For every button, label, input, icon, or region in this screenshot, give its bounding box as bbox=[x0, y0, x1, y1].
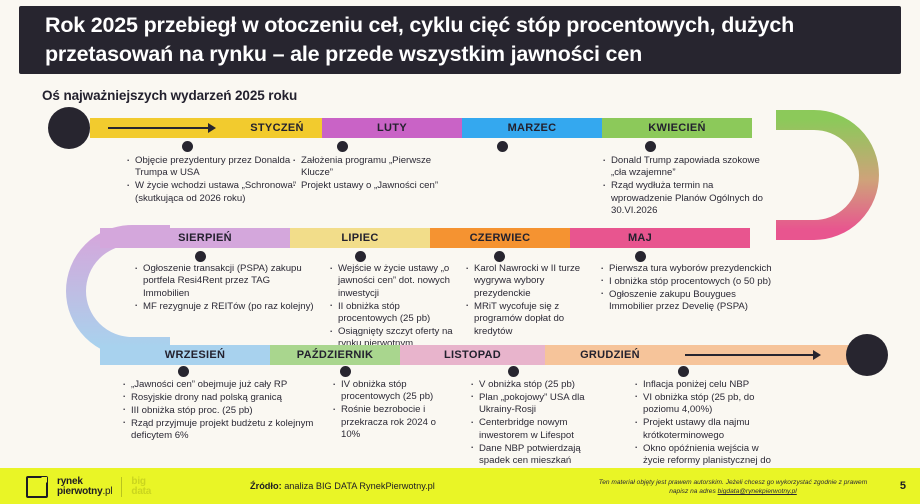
list-item: III obniżka stóp proc. (25 pb) bbox=[120, 405, 332, 417]
event-dot bbox=[494, 251, 505, 262]
month-label-kwiecien: KWIECIEŃ bbox=[602, 118, 752, 138]
section-subtitle: Oś najważniejszych wydarzeń 2025 roku bbox=[42, 88, 297, 103]
row3-arrow-head bbox=[813, 350, 821, 360]
list-item: Objęcie prezydentury przez Donalda Trump… bbox=[124, 155, 304, 180]
brand-logo[interactable]: rynek pierwotny.pl big data bbox=[26, 476, 151, 498]
list-item: IV obniżka stóp procentowych (25 pb) bbox=[330, 379, 450, 404]
list-item: II obniżka stóp procentowych (25 pb) bbox=[327, 301, 457, 326]
logo-line2: pierwotny bbox=[57, 486, 102, 497]
timeline-end-cap bbox=[846, 334, 888, 376]
slide: Rok 2025 przebiegł w otoczeniu ceł, cykl… bbox=[0, 0, 920, 504]
list-item: Rząd wydłuża termin na wprowadzenie Plan… bbox=[600, 180, 765, 217]
list-item: MRiT wycofuje się z programów dopłat do … bbox=[463, 301, 588, 338]
event-dot bbox=[635, 251, 646, 262]
bigdata-logo: big data bbox=[131, 477, 151, 498]
list-item: W życie wchodzi ustawa „Schronowa” (skut… bbox=[124, 180, 304, 205]
month-label-marzec: MARZEC bbox=[462, 118, 602, 138]
list-item: Karol Nawrocki w II turze wygrywa wybory… bbox=[463, 263, 588, 300]
source-text: analiza BIG DATA RynekPierwotny.pl bbox=[282, 481, 435, 491]
bigdata-line2: data bbox=[131, 487, 151, 498]
list-item: Rośnie bezrobocie i przekracza rok 2024 … bbox=[330, 404, 450, 441]
copyright-line-1: Ten materiał objęty jest prawem autorski… bbox=[599, 479, 812, 486]
row1-arrow-head bbox=[208, 123, 216, 133]
list-item: Pierwsza tura wyborów prezydenckich bbox=[598, 263, 773, 275]
logo-mark-icon bbox=[26, 476, 48, 498]
list-item: Projekt ustawy o „Jawności cen” bbox=[290, 180, 440, 192]
list-item: Centerbridge nowym inwestorem w Lifespot bbox=[468, 417, 608, 442]
events-column-pazdziernik: IV obniżka stóp procentowych (25 pb) Roś… bbox=[330, 379, 450, 442]
event-dot bbox=[178, 366, 189, 377]
copyright-note: Ten materiał objęty jest prawem autorski… bbox=[592, 478, 874, 496]
list-item: VI obniżka stóp (25 pb, do poziomu 4,00%… bbox=[632, 392, 782, 417]
timeline-row-3: WRZESIEŃ PAŹDZIERNIK LISTOPAD GRUDZIEŃ bbox=[100, 345, 860, 365]
event-dot bbox=[337, 141, 348, 152]
list-item: Inflacja poniżej celu NBP bbox=[632, 379, 782, 391]
row3-arrow-line bbox=[685, 354, 813, 356]
slide-footer: rynek pierwotny.pl big data Źródło: anal… bbox=[0, 468, 920, 504]
page-number: 5 bbox=[900, 480, 906, 492]
month-label-czerwiec: CZERWIEC bbox=[430, 228, 570, 248]
logo-divider bbox=[121, 477, 122, 497]
month-label-wrzesien: WRZESIEŃ bbox=[120, 345, 270, 365]
list-item: Rosyjskie drony nad polską granicą bbox=[120, 392, 332, 404]
event-dot bbox=[678, 366, 689, 377]
logo-wordmark: rynek pierwotny.pl bbox=[57, 477, 112, 498]
list-item: „Jawności cen” obejmuje już cały RP bbox=[120, 379, 332, 391]
month-label-lipiec: LIPIEC bbox=[290, 228, 430, 248]
list-item: V obniżka stóp (25 pb) bbox=[468, 379, 608, 391]
month-label-grudzien: GRUDZIEŃ bbox=[545, 345, 675, 365]
timeline-row-2: SIERPIEŃ LIPIEC CZERWIEC MAJ bbox=[100, 228, 800, 248]
timeline-start-cap bbox=[48, 107, 90, 149]
month-label-styczen: STYCZEŃ bbox=[232, 118, 322, 138]
events-column-wrzesien: „Jawności cen” obejmuje już cały RP Rosy… bbox=[120, 379, 332, 443]
events-column-luty: Założenia programu „Pierwsze Klucze” Pro… bbox=[290, 155, 440, 193]
list-item: MF rezygnuje z REITów (po raz kolejny) bbox=[132, 301, 317, 313]
events-column-sierpien: Ogłoszenie transakcji (PSPA) zakupu port… bbox=[132, 263, 317, 314]
list-item: Wejście w życie ustawy „o jawności cen” … bbox=[327, 263, 457, 300]
event-dot bbox=[508, 366, 519, 377]
list-item: Ogłoszenie zakupu Bouygues Immobilier pr… bbox=[598, 289, 773, 314]
event-dot bbox=[645, 141, 656, 152]
list-item: Założenia programu „Pierwsze Klucze” bbox=[290, 155, 440, 180]
event-dot bbox=[195, 251, 206, 262]
list-item: Dane NBP potwierdzają spadek cen mieszka… bbox=[468, 443, 608, 468]
list-item: I obniżka stóp procentowych (o 50 pb) bbox=[598, 276, 773, 288]
list-item: Ogłoszenie transakcji (PSPA) zakupu port… bbox=[132, 263, 317, 300]
event-dot bbox=[182, 141, 193, 152]
list-item: Projekt ustawy dla najmu krótkoterminowe… bbox=[632, 417, 782, 442]
events-column-lipiec: Wejście w życie ustawy „o jawności cen” … bbox=[327, 263, 457, 351]
slide-header: Rok 2025 przebiegł w otoczeniu ceł, cykl… bbox=[19, 6, 901, 74]
copyright-email-link[interactable]: bigdata@rynekpierwotny.pl bbox=[718, 488, 797, 495]
event-dot bbox=[355, 251, 366, 262]
row1-arrow-line bbox=[108, 127, 208, 129]
events-column-czerwiec: Karol Nawrocki w II turze wygrywa wybory… bbox=[463, 263, 588, 338]
events-column-listopad: V obniżka stóp (25 pb) Plan „pokojowy” U… bbox=[468, 379, 608, 468]
event-dot bbox=[340, 366, 351, 377]
page-title: Rok 2025 przebiegł w otoczeniu ceł, cykl… bbox=[19, 11, 901, 69]
events-column-maj: Pierwsza tura wyborów prezydenckich I ob… bbox=[598, 263, 773, 314]
timeline-row-1: STYCZEŃ LUTY MARZEC KWIECIEŃ bbox=[90, 118, 790, 138]
month-label-maj: MAJ bbox=[570, 228, 710, 248]
source-label: Źródło: bbox=[250, 481, 282, 491]
events-column-kwiecien: Donald Trump zapowiada szokowe „cła wzaj… bbox=[600, 155, 765, 218]
events-column-styczen: Objęcie prezydentury przez Donalda Trump… bbox=[124, 155, 304, 206]
month-label-listopad: LISTOPAD bbox=[400, 345, 545, 365]
list-item: Plan „pokojowy” USA dla Ukrainy-Rosji bbox=[468, 392, 608, 417]
list-item: Rząd przyjmuje projekt budżetu z kolejny… bbox=[120, 418, 332, 443]
source-note: Źródło: analiza BIG DATA RynekPierwotny.… bbox=[250, 481, 435, 491]
logo-tld: .pl bbox=[102, 486, 112, 497]
event-dot bbox=[497, 141, 508, 152]
month-label-luty: LUTY bbox=[322, 118, 462, 138]
list-item: Donald Trump zapowiada szokowe „cła wzaj… bbox=[600, 155, 765, 180]
month-label-pazdziernik: PAŹDZIERNIK bbox=[270, 345, 400, 365]
month-label-sierpien: SIERPIEŃ bbox=[130, 228, 280, 248]
events-column-grudzien: Inflacja poniżej celu NBP VI obniżka stó… bbox=[632, 379, 782, 480]
